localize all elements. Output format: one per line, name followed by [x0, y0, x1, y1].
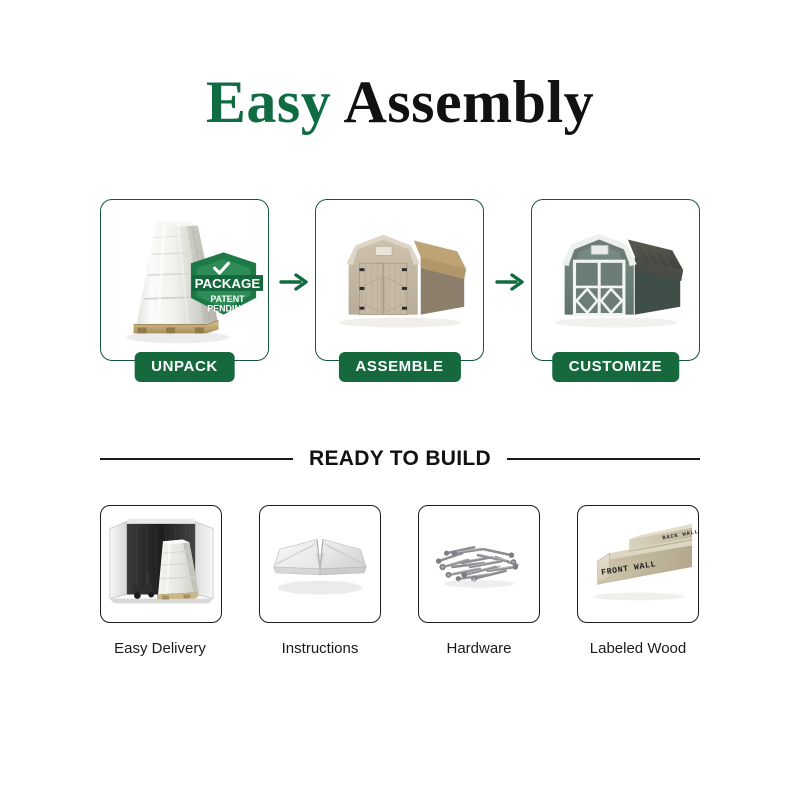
badge-title: PACKAGE	[195, 276, 261, 291]
pile-of-screws-art	[419, 506, 539, 622]
feature-labeled-wood[interactable]: BACK WALL FRONT WALL	[577, 505, 699, 657]
bare-wood-barn-shed-art	[316, 200, 483, 360]
step-unpack[interactable]: PACKAGE PATENT PENDING UNPACK	[100, 199, 269, 361]
step-card-customize	[531, 199, 700, 361]
step-card-unpack: PACKAGE PATENT PENDING	[100, 199, 269, 361]
feature-label-labeled-wood: Labeled Wood	[577, 640, 699, 657]
step-assemble[interactable]: ASSEMBLE	[315, 199, 484, 361]
feature-label-easy-delivery: Easy Delivery	[98, 640, 222, 657]
step-label-assemble: ASSEMBLE	[338, 352, 460, 382]
features-row: Easy Delivery	[100, 505, 700, 675]
step-card-assemble	[315, 199, 484, 361]
feature-card-hardware	[418, 505, 540, 623]
feature-instructions[interactable]: Instructions	[259, 505, 381, 657]
title-accent-word: Easy	[206, 69, 331, 135]
divider-rule-left	[100, 458, 293, 460]
arrow-right-icon	[279, 271, 309, 293]
shrink-wrapped-pallet-art: PACKAGE PATENT PENDING	[101, 200, 268, 360]
divider-label: READY TO BUILD	[309, 447, 491, 471]
labeled-lumber-art: BACK WALL FRONT WALL	[578, 506, 698, 622]
step-label-customize: CUSTOMIZE	[552, 352, 679, 382]
steps-row: PACKAGE PATENT PENDING UNPACK	[100, 199, 700, 404]
feature-label-instructions: Instructions	[259, 640, 381, 657]
ready-to-build-divider: READY TO BUILD	[100, 447, 700, 471]
title-block: Easy Assembly	[0, 68, 800, 137]
painted-green-barn-shed-art	[532, 200, 699, 360]
delivery-truck-pallet-art	[101, 506, 221, 622]
feature-label-hardware: Hardware	[418, 640, 540, 657]
step-label-unpack: UNPACK	[134, 352, 235, 382]
open-book-art	[260, 506, 380, 622]
title-plain-word: Assembly	[343, 69, 594, 135]
feature-hardware[interactable]: Hardware	[418, 505, 540, 657]
feature-card-labeled-wood: BACK WALL FRONT WALL	[577, 505, 699, 623]
title-space	[331, 69, 343, 135]
divider-rule-right	[507, 458, 700, 460]
feature-card-instructions	[259, 505, 381, 623]
easy-assembly-infographic: Easy Assembly	[0, 0, 800, 800]
badge-line2: PENDING	[207, 304, 248, 314]
page-title: Easy Assembly	[0, 68, 800, 137]
feature-card-easy-delivery	[100, 505, 222, 623]
badge-line1: PATENT	[210, 294, 245, 304]
feature-easy-delivery[interactable]: Easy Delivery	[100, 505, 222, 657]
step-customize[interactable]: CUSTOMIZE	[531, 199, 700, 361]
arrow-right-icon	[495, 271, 525, 293]
